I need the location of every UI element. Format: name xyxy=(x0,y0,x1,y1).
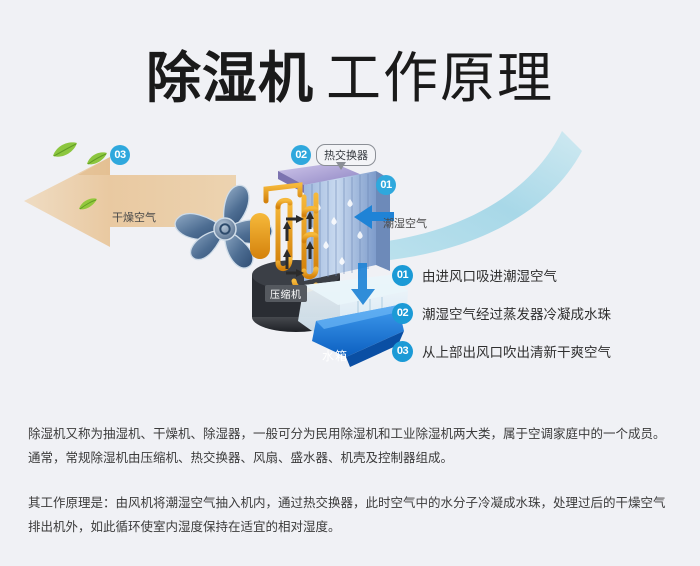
compressor-label: 压缩机 xyxy=(265,285,307,302)
list-item: 01 由进风口吸进潮湿空气 xyxy=(392,256,692,294)
callout-tail xyxy=(336,162,346,170)
description-paragraph-1: 除湿机又称为抽湿机、干燥机、除湿器，一般可分为民用除湿机和工业除湿机两大类，属于… xyxy=(28,422,674,470)
title-bold-part: 除湿机 xyxy=(146,47,314,109)
description-paragraph-2: 其工作原理是：由风机将潮湿空气抽入机内，通过热交换器，此时空气中的水分子冷凝成水… xyxy=(28,491,674,539)
step-text-03: 从上部出风口吹出清新干爽空气 xyxy=(422,341,611,361)
leaf-icon xyxy=(86,151,108,167)
water-tank-label: 水箱 xyxy=(322,347,348,364)
step-badge-03: 03 xyxy=(392,341,413,362)
step-badge-02: 02 xyxy=(392,303,413,324)
diagram-badge-02: 02 xyxy=(291,145,311,165)
page-title: 除湿机工作原理 xyxy=(0,33,700,113)
step-badge-01: 01 xyxy=(392,265,413,286)
list-item: 03 从上部出风口吹出清新干爽空气 xyxy=(392,332,692,370)
step-text-02: 潮湿空气经过蒸发器冷凝成水珠 xyxy=(422,303,611,323)
steps-list: 01 由进风口吸进潮湿空气 02 潮湿空气经过蒸发器冷凝成水珠 03 从上部出风… xyxy=(392,256,692,370)
leaf-icon xyxy=(78,197,98,212)
humid-air-label: 潮湿空气 xyxy=(383,215,427,231)
title-light-part: 工作原理 xyxy=(326,47,554,109)
infographic-page: 除湿机工作原理 xyxy=(0,0,700,566)
list-item: 02 潮湿空气经过蒸发器冷凝成水珠 xyxy=(392,294,692,332)
diagram-badge-01: 01 xyxy=(376,175,396,195)
heat-exchanger-callout: 热交换器 xyxy=(316,144,376,166)
description-block: 除湿机又称为抽湿机、干燥机、除湿器，一般可分为民用除湿机和工业除湿机两大类，属于… xyxy=(28,422,674,539)
dry-air-label: 干燥空气 xyxy=(112,209,156,225)
leaf-icon xyxy=(52,141,78,159)
step-text-01: 由进风口吸进潮湿空气 xyxy=(422,265,557,285)
diagram-badge-03: 03 xyxy=(110,145,130,165)
